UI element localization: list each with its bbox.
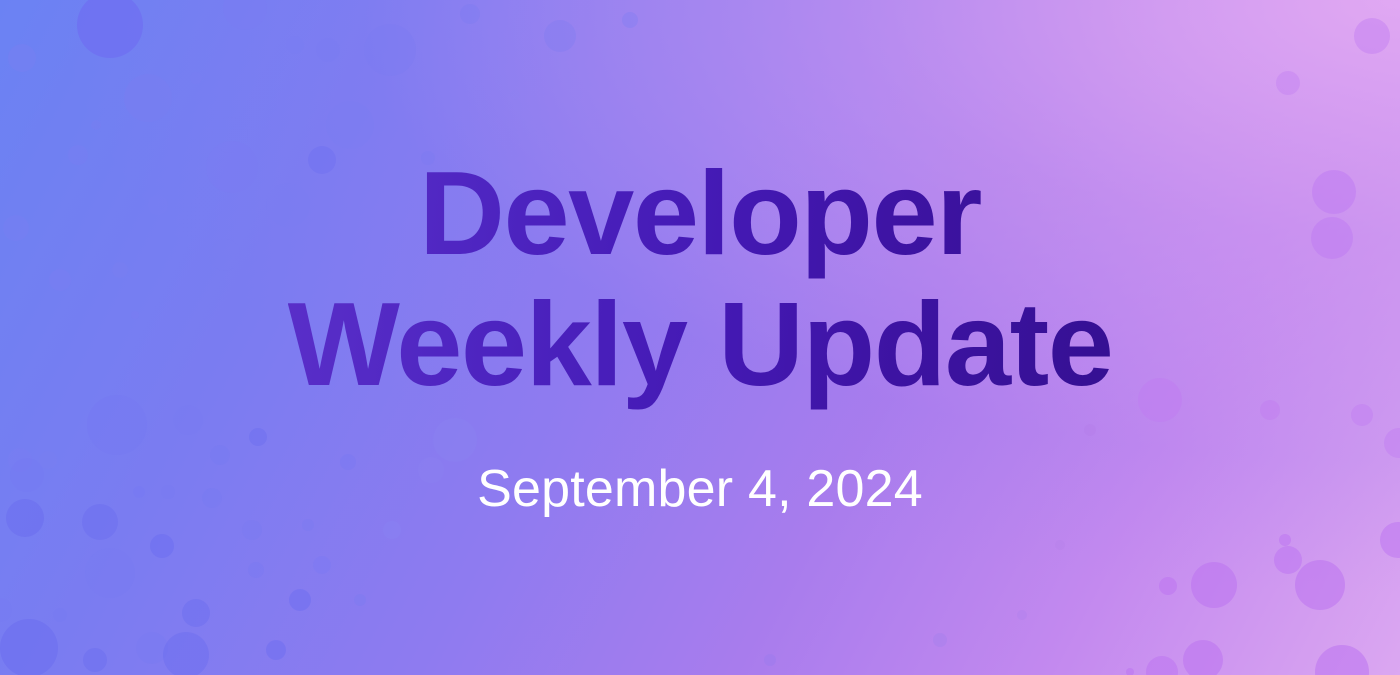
slide-content: Developer Weekly Update September 4, 202… [0, 0, 1400, 675]
page-title: Developer Weekly Update [288, 148, 1113, 410]
slide-date: September 4, 2024 [477, 410, 923, 518]
title-slide: Developer Weekly Update September 4, 202… [0, 0, 1400, 675]
title-line-2: Weekly Update [288, 279, 1113, 410]
title-line-1: Developer [288, 148, 1113, 279]
